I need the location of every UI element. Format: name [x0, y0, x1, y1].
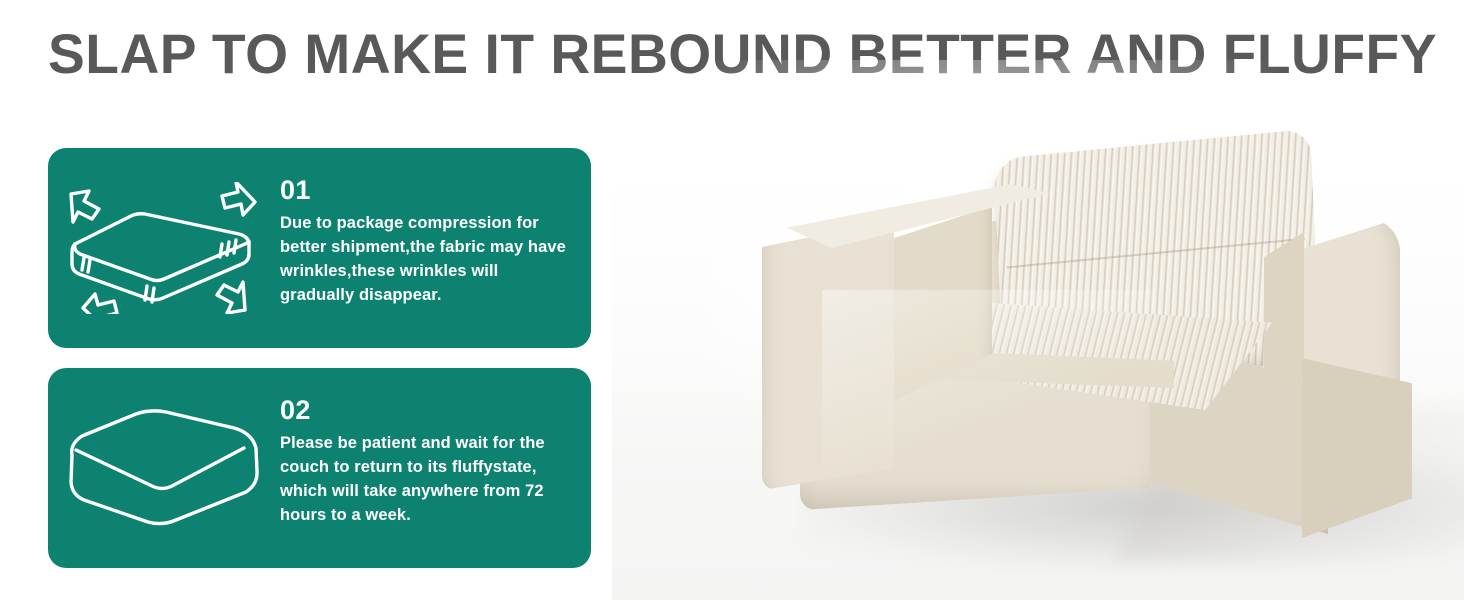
info-card-02: 02 Please be patient and wait for the co… — [48, 368, 591, 568]
fluffy-cushion-icon — [48, 368, 280, 568]
info-card-01-body: 01 Due to package compression for better… — [280, 148, 591, 307]
sofa-left-arm — [762, 220, 894, 490]
promo-banner: SLAP TO MAKE IT REBOUND BETTER AND FLUFF… — [0, 0, 1464, 600]
info-card-01: 01 Due to package compression for better… — [48, 148, 591, 348]
compressed-cushion-icon — [48, 148, 280, 348]
info-card-01-text: Due to package compression for better sh… — [280, 211, 569, 307]
product-image — [612, 0, 1464, 600]
pillow-seam — [1006, 238, 1305, 269]
corduroy-armchair-illustration — [762, 110, 1464, 550]
info-card-02-text: Please be patient and wait for the couch… — [280, 431, 569, 527]
info-card-01-number: 01 — [280, 175, 569, 205]
info-card-02-number: 02 — [280, 395, 569, 425]
info-card-list: 01 Due to package compression for better… — [48, 148, 591, 568]
info-card-02-body: 02 Please be patient and wait for the co… — [280, 368, 591, 527]
